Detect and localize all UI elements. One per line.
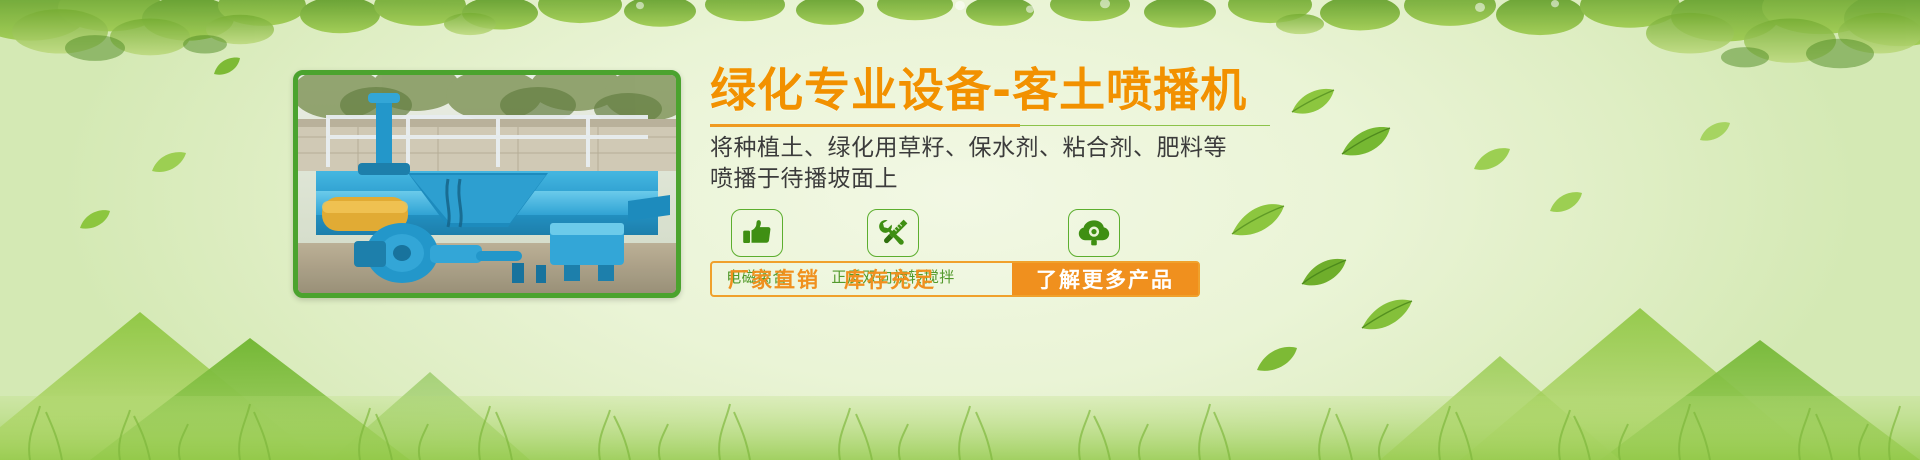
slogan-in-stock: 库存充足 xyxy=(844,264,936,294)
feature-icon-box xyxy=(867,209,919,257)
grass-decoration xyxy=(0,340,1920,460)
title-divider xyxy=(710,124,1270,127)
floating-leaf-icon xyxy=(1360,296,1414,334)
page-title: 绿化专业设备-客土喷播机 xyxy=(710,66,1710,115)
product-photo xyxy=(293,70,681,298)
feature-icon-box xyxy=(1068,209,1120,257)
floating-leaf-icon xyxy=(212,56,242,78)
cta-slogans: 厂家直销 库存充足 xyxy=(712,263,1012,295)
subtitle-line-2: 喷播于待播坡面上 xyxy=(710,164,1710,195)
divider-green-segment xyxy=(1020,125,1270,127)
banner-content: 绿化专业设备-客土喷播机 将种植土、绿化用草籽、保水剂、粘合剂、肥料等 喷播于待… xyxy=(710,66,1710,287)
wrench-screwdriver-icon xyxy=(877,218,909,248)
floating-leaf-icon xyxy=(1255,344,1299,376)
engine-power-icon xyxy=(1078,219,1110,247)
subtitle-line-1: 将种植土、绿化用草籽、保水剂、粘合剂、肥料等 xyxy=(710,133,1710,164)
feature-icon-box xyxy=(731,209,783,257)
floating-leaf-icon xyxy=(150,150,188,176)
slogan-factory-direct: 厂家直销 xyxy=(728,264,820,294)
product-photo-image xyxy=(298,75,676,293)
learn-more-button[interactable]: 了解更多产品 xyxy=(1012,263,1198,295)
promo-banner: 绿化专业设备-客土喷播机 将种植土、绿化用草籽、保水剂、粘合剂、肥料等 喷播于待… xyxy=(0,0,1920,460)
thumbs-up-icon xyxy=(742,219,772,247)
cta-bar: 厂家直销 库存充足 了解更多产品 xyxy=(710,261,1200,297)
floating-leaf-icon xyxy=(78,208,112,232)
divider-orange-segment xyxy=(710,124,1020,127)
